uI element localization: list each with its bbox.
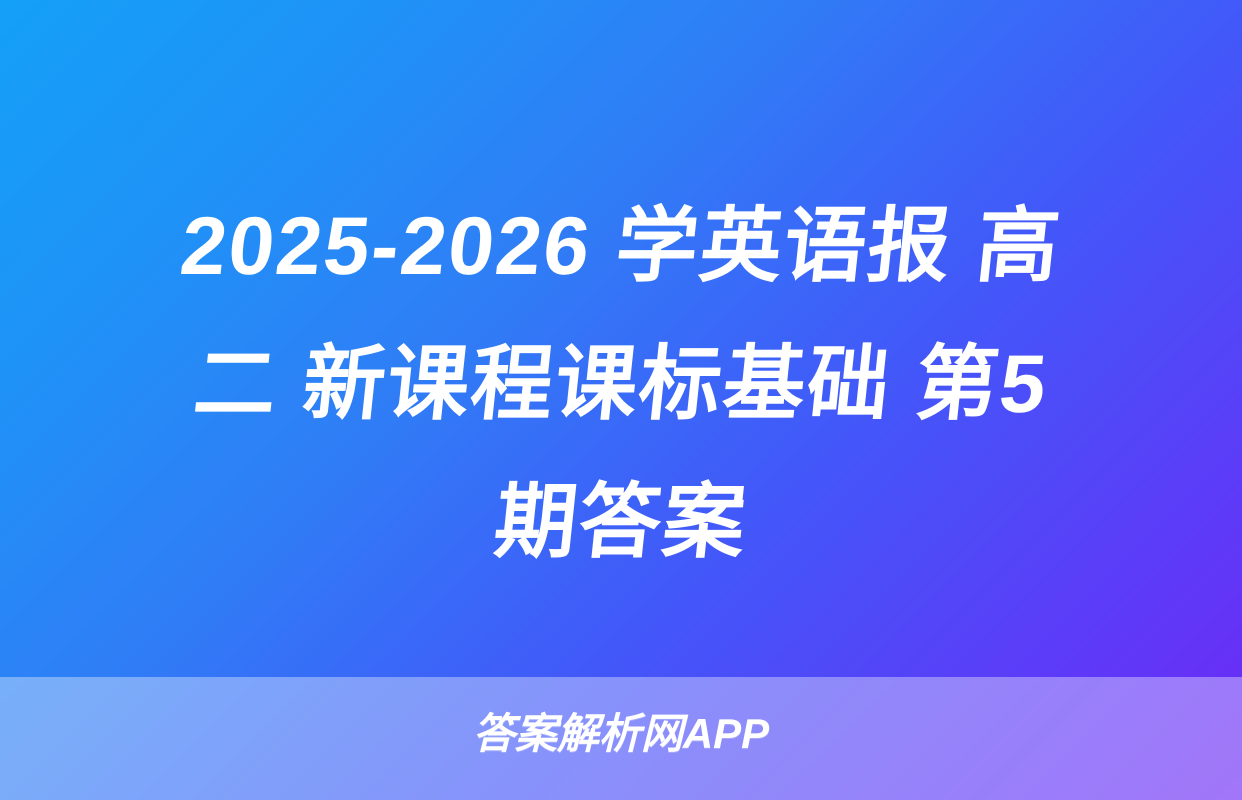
title-line-2: 二 新课程课标基础 第5	[49, 316, 1194, 454]
title-line-3: 期答案	[49, 454, 1194, 592]
page-title: 2025-2026 学英语报 高 二 新课程课标基础 第5 期答案	[0, 178, 1242, 592]
title-line-1: 2025-2026 学英语报 高	[49, 178, 1194, 316]
answer-cover-poster: 2025-2026 学英语报 高 二 新课程课标基础 第5 期答案 答案解析网A…	[0, 0, 1242, 800]
brand-watermark: 答案解析网APP	[0, 706, 1242, 762]
